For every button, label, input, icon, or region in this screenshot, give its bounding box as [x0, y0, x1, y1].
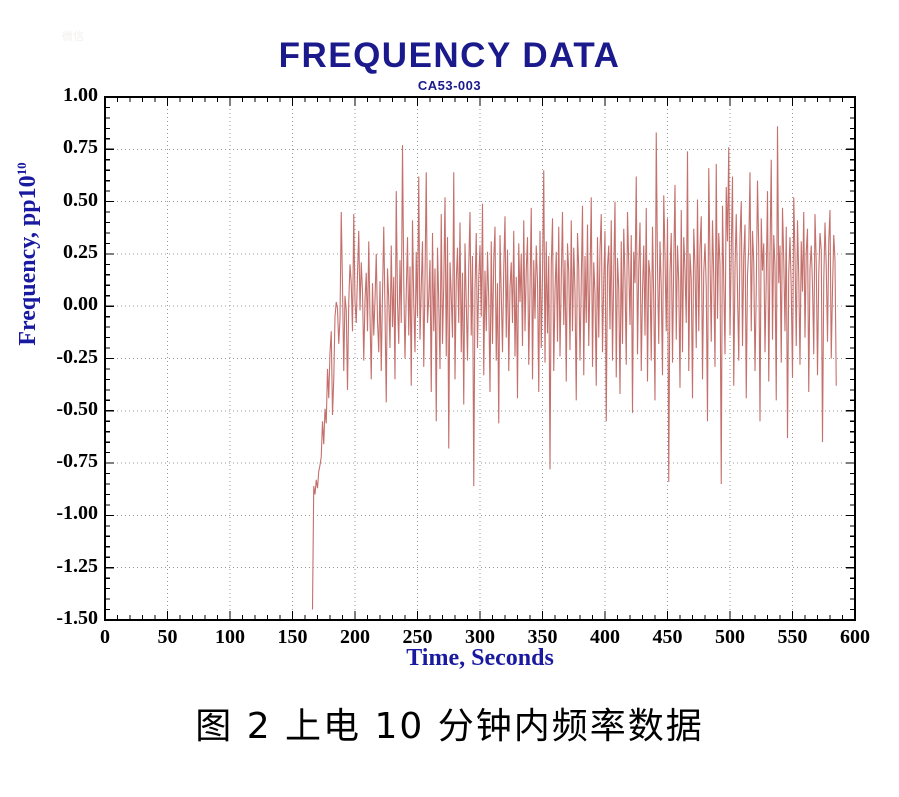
x-axis-label: Time, Seconds: [105, 645, 855, 672]
plot-area: [0, 0, 899, 797]
figure-caption: 图 2 上电 10 分钟内频率数据: [0, 697, 899, 749]
figure-container: 微信 FREQUENCY DATA CA53-003 Frequency, pp…: [0, 0, 899, 797]
